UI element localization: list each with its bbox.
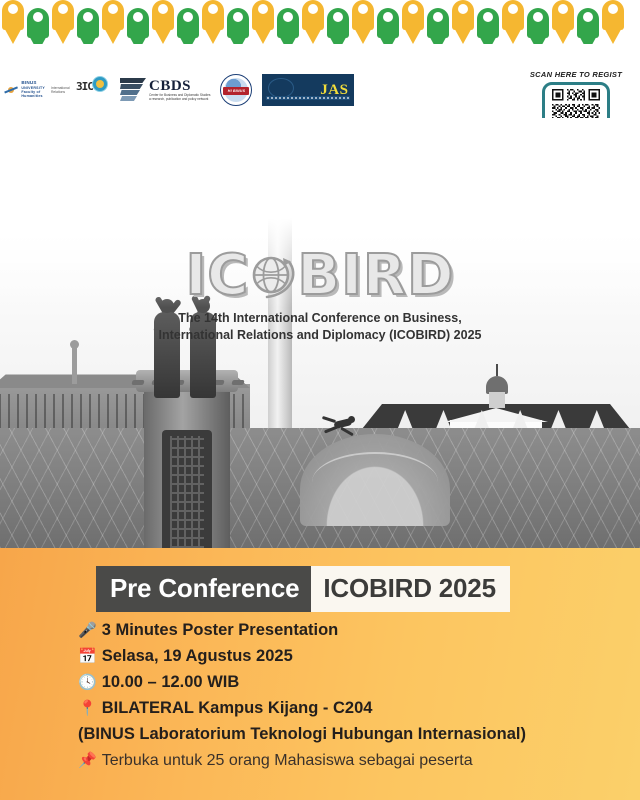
detail-line-1: 📅Selasa, 19 Agustus 2025 (78, 646, 618, 667)
detail-line-5: 📌Terbuka untuk 25 orang Mahasiswa sebaga… (78, 750, 618, 771)
qr-label: SCAN HERE TO REGIST (526, 70, 626, 79)
ornament-yellow (0, 0, 26, 44)
hero-photo-section: IC BIRD The 14th International Conferen (0, 118, 640, 548)
ornament-yellow (350, 0, 376, 44)
seal-band-text: HI BINUS (223, 87, 249, 95)
seal-band: HI BINUS (223, 87, 249, 95)
detail-text-4: (BINUS Laboratorium Teknologi Hubungan I… (78, 724, 526, 745)
pre-conference-ribbon: Pre Conference ICOBIRD 2025 (96, 566, 510, 612)
ornament-banner (0, 0, 640, 44)
cbds-logo: CBDS Center for Business and Diplomatic … (120, 77, 210, 103)
monument-plinth (144, 384, 230, 548)
detail-text-0: 3 Minutes Poster Presentation (102, 620, 339, 641)
ribbon-light-label: ICOBIRD 2025 (311, 566, 509, 612)
ornament-yellow (250, 0, 276, 44)
binus-university-logo: BINUS UNIVERSITY Faculty of Humanities I… (8, 73, 66, 107)
conference-subtitle: The 14th International Conference on Bus… (0, 310, 640, 344)
binus-side-text: International Relations (51, 86, 70, 94)
ornament-green (375, 8, 401, 44)
bfi-mark-icon: 3IC (76, 80, 93, 93)
icobird-brand-block: IC BIRD The 14th International Conferen (0, 248, 640, 344)
binus-logo-text: BINUS UNIVERSITY Faculty of Humanities (21, 81, 45, 99)
museum-cupola (484, 370, 510, 410)
detail-text-5: Terbuka untuk 25 orang Mahasiswa sebagai… (102, 750, 473, 771)
poster-canvas: BINUS UNIVERSITY Faculty of Humanities I… (0, 0, 640, 800)
cbds-glyph-icon (120, 77, 146, 103)
ornament-green (225, 8, 251, 44)
location-pin-icon: 📍 (78, 698, 97, 719)
ornament-yellow (550, 0, 576, 44)
ornament-yellow (100, 0, 126, 44)
ir-seal-logo: HI BINUS (220, 74, 252, 106)
cbds-primary: CBDS (149, 79, 210, 94)
detail-text-3: BILATERAL Kampus Kijang - C204 (102, 698, 373, 719)
ornament-yellow (600, 0, 626, 44)
detail-line-0: 🎤3 Minutes Poster Presentation (78, 620, 618, 641)
calendar-icon: 📅 (78, 646, 97, 667)
detail-line-2: 🕓10.00 – 12.00 WIB (78, 672, 618, 693)
detail-line-3: 📍BILATERAL Kampus Kijang - C204 (78, 698, 618, 719)
ornament-green (475, 8, 501, 44)
globe-icon (247, 250, 299, 302)
subtitle-line-1: The 14th International Conference on Bus… (0, 310, 640, 327)
ornament-yellow (300, 0, 326, 44)
ornament-green (175, 8, 201, 44)
ornament-yellow (450, 0, 476, 44)
ribbon-dark-label: Pre Conference (96, 566, 311, 612)
ornament-green (575, 8, 601, 44)
ornament-green (125, 8, 151, 44)
binus-line4: Humanities (21, 94, 45, 98)
ornament-green (525, 8, 551, 44)
binus-mark-icon (4, 83, 18, 97)
ornament-yellow (50, 0, 76, 44)
detail-text-1: Selasa, 19 Agustus 2025 (102, 646, 293, 667)
microphone-icon: 🎤 (78, 620, 97, 641)
detail-line-4: (BINUS Laboratorium Teknologi Hubungan I… (78, 724, 618, 745)
event-info-panel: Pre Conference ICOBIRD 2025 🎤3 Minutes P… (0, 548, 640, 800)
minaret-shape (72, 348, 77, 384)
icobird-wordmark: IC BIRD (185, 248, 454, 304)
bfi-logo: 3IC (76, 74, 110, 106)
jas-subtitle-rule (266, 96, 350, 100)
ornament-yellow (500, 0, 526, 44)
wordmark-part1: IC (185, 248, 249, 304)
detail-text-2: 10.00 – 12.00 WIB (102, 672, 240, 693)
clock-icon: 🕓 (78, 672, 97, 693)
wordmark-part2: BIRD (297, 248, 454, 304)
ornament-yellow (150, 0, 176, 44)
sponsor-logo-strip: BINUS UNIVERSITY Faculty of Humanities I… (0, 66, 390, 114)
cbds-sub2: a research, publication and policy netwo… (149, 98, 210, 102)
ornament-green (325, 8, 351, 44)
subtitle-line-2: International Relations and Diplomacy (I… (0, 327, 640, 344)
ornament-yellow (400, 0, 426, 44)
jas-logo: JAS (262, 74, 354, 106)
ornament-green (25, 8, 51, 44)
diponegoro-statue-shape (322, 414, 362, 440)
pushpin-icon: 📌 (78, 750, 97, 771)
jas-globe-icon (268, 78, 294, 98)
bfi-dot-icon (92, 76, 108, 92)
ornament-green (75, 8, 101, 44)
ornament-yellow (200, 0, 226, 44)
ornament-green (425, 8, 451, 44)
event-detail-list: 🎤3 Minutes Poster Presentation📅Selasa, 1… (78, 620, 618, 776)
ornament-green (275, 8, 301, 44)
